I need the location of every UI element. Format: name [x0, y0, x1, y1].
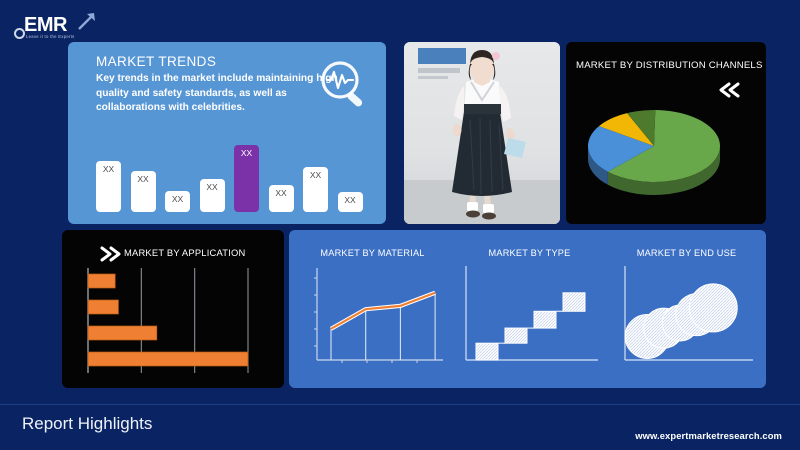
market-by-distribution-channels-panel: MARKET BY DISTRIBUTION CHANNELS — [566, 42, 766, 224]
material-line — [331, 293, 435, 329]
trend-bar: XX — [234, 145, 259, 212]
website-url[interactable]: www.expertmarketresearch.com — [635, 430, 782, 441]
growth-arrow-icon — [76, 10, 98, 32]
application-bar — [88, 352, 248, 366]
application-bar-chart — [80, 268, 270, 376]
market-by-type-chart: MARKET BY TYPE — [452, 230, 607, 388]
bubble — [689, 284, 737, 332]
report-highlights-title: Report Highlights — [22, 414, 152, 434]
trend-bar-label: XX — [172, 194, 183, 204]
footer-divider — [0, 404, 800, 405]
trend-bar-label: XX — [241, 148, 252, 158]
distribution-channels-title: MARKET BY DISTRIBUTION CHANNELS — [576, 60, 763, 71]
emr-logo[interactable]: EMR Leave it to the Experts — [14, 8, 124, 42]
trend-bar-label: XX — [344, 195, 355, 205]
application-title: MARKET BY APPLICATION — [124, 247, 245, 258]
trend-bar: XX — [200, 179, 225, 212]
magnifier-pulse-icon — [318, 58, 372, 112]
market-trends-title: MARKET TRENDS — [96, 54, 216, 69]
market-by-end-use-chart: MARKET BY END USE — [609, 230, 764, 388]
trend-bar-label: XX — [103, 164, 114, 174]
trend-bar: XX — [303, 167, 328, 212]
trend-bar: XX — [131, 171, 156, 212]
distribution-pie-chart — [576, 94, 756, 214]
market-trends-body: Key trends in the market include maintai… — [96, 72, 341, 116]
trend-bar-label: XX — [206, 182, 217, 192]
trend-bar: XX — [269, 185, 294, 212]
trend-bar-label: XX — [137, 174, 148, 184]
application-bar — [88, 300, 118, 314]
waterfall-bar — [505, 328, 527, 343]
market-trends-bar-chart: XXXXXXXXXXXXXXXX — [96, 130, 366, 212]
trend-bar: XX — [338, 192, 363, 212]
waterfall-bar — [534, 311, 556, 328]
double-chevron-right-icon — [98, 246, 122, 262]
logo-tagline: Leave it to the Experts — [26, 34, 75, 39]
trend-bar: XX — [96, 161, 121, 212]
end-use-title: MARKET BY END USE — [609, 248, 764, 258]
market-trends-panel: MARKET TRENDS Key trends in the market i… — [68, 42, 386, 224]
trend-bar: XX — [165, 191, 190, 212]
material-title: MARKET BY MATERIAL — [295, 248, 450, 258]
market-by-material-chart: MARKET BY MATERIAL — [295, 230, 450, 388]
model-figure — [404, 42, 560, 224]
bottom-charts-panel: MARKET BY MATERIAL MARKET BY TYPE MARKET… — [289, 230, 766, 388]
trend-bar-label: XX — [275, 188, 286, 198]
type-title: MARKET BY TYPE — [452, 248, 607, 258]
application-bar — [88, 274, 115, 288]
trend-bar-label: XX — [310, 170, 321, 180]
application-bar — [88, 326, 157, 340]
waterfall-bar — [563, 293, 585, 311]
fashion-runway-model-photo — [404, 42, 560, 224]
waterfall-bar — [476, 343, 498, 360]
market-by-application-panel: MARKET BY APPLICATION — [62, 230, 284, 388]
